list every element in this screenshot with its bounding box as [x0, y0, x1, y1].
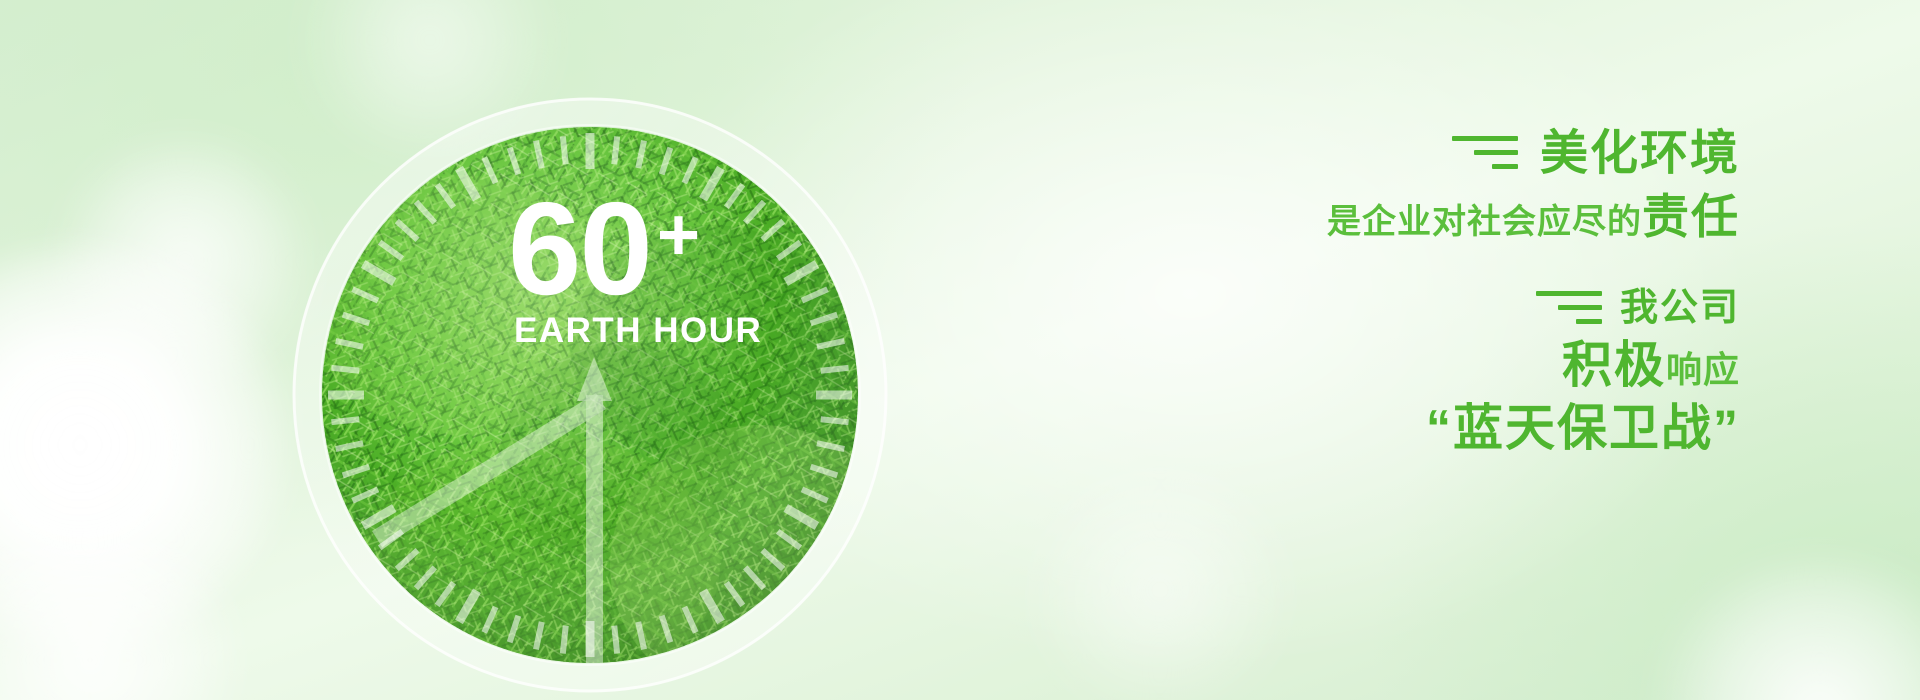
- slogan-headline-one: 美化环境: [1540, 130, 1740, 178]
- slogan-group-one: 美化环境 是企业对社会应尽的责任: [1040, 130, 1740, 241]
- accent-dash-short: [1492, 164, 1518, 169]
- slogan-headline-two: 我公司: [1620, 289, 1740, 327]
- slogan-subline-two-emphasis: 积极: [1562, 337, 1666, 393]
- accent-dash-long: [1452, 136, 1518, 141]
- accent-dash-long: [1536, 291, 1602, 296]
- slogan-subline-one-plain: 是企业对社会应尽的: [1327, 203, 1642, 241]
- slogan-subline-one-emphasis: 责任: [1642, 190, 1740, 243]
- slogan-subline-two-plain: 响应: [1666, 349, 1740, 390]
- slogan-subline-two: 积极响应: [1040, 339, 1740, 392]
- grass-clock-graphic: [290, 95, 890, 695]
- headline-row-two: 我公司: [1040, 289, 1740, 327]
- accent-dashes-one: [1452, 136, 1518, 169]
- slogan-subline-one: 是企业对社会应尽的责任: [1040, 192, 1740, 241]
- accent-dash-medium: [1474, 150, 1518, 155]
- accent-dash-medium: [1558, 305, 1602, 310]
- slogan-panel: 美化环境 是企业对社会应尽的责任 我公司 积极响应 “蓝天保卫战”: [1040, 130, 1740, 454]
- accent-dash-short: [1576, 319, 1602, 324]
- accent-dashes-two: [1536, 291, 1602, 324]
- slogan-quote-line: “蓝天保卫战”: [1040, 402, 1740, 455]
- headline-row-one: 美化环境: [1040, 130, 1740, 178]
- slogan-group-two: 我公司 积极响应 “蓝天保卫战”: [1040, 289, 1740, 454]
- earth-hour-banner: 60+ EARTH HOUR 美化环境 是企业对社会应尽的责任: [0, 0, 1920, 700]
